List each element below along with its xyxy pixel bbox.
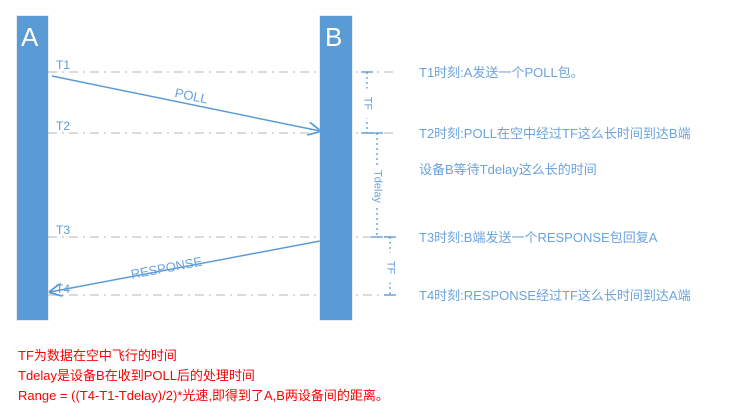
- time-label-t4: T4: [56, 283, 70, 295]
- time-label-t2: T2: [56, 120, 70, 132]
- annotation-t4: T4时刻:RESPONSE经过TF这么长时间到达A端: [419, 289, 691, 303]
- formula-line-tdelay: Tdelay是设备B在收到POLL后的处理时间: [18, 366, 389, 386]
- formula-line-range: Range = ((T4-T1-Tdelay)/2)*光速,即得到了A,B两设备…: [18, 386, 389, 406]
- annotation-t2: T2时刻:POLL在空中经过TF这么长时间到达B端: [419, 127, 691, 141]
- ranging-timing-diagram: A B T1 T2 T3 T4 POLL RESPONSE TF Tdelay …: [0, 0, 737, 418]
- annotation-t1: T1时刻:A发送一个POLL包。: [419, 66, 584, 80]
- formula-line-tf: TF为数据在空中飞行的时间: [18, 346, 389, 366]
- bracket-label-tdelay: Tdelay: [371, 167, 384, 207]
- annotation-tdelay: 设备B等待Tdelay这么长的时间: [419, 163, 597, 177]
- poll-arrow: [52, 76, 320, 131]
- bracket-label-tf-bottom: TF: [384, 253, 397, 283]
- node-bar-a: [17, 16, 48, 320]
- node-label-a: A: [21, 24, 38, 50]
- bracket-label-tf-top: TF: [361, 89, 374, 119]
- formula-block: TF为数据在空中飞行的时间 Tdelay是设备B在收到POLL后的处理时间 Ra…: [18, 346, 389, 406]
- time-label-t1: T1: [56, 59, 70, 71]
- node-label-b: B: [325, 24, 342, 50]
- annotation-t3: T3时刻:B端发送一个RESPONSE包回复A: [419, 231, 657, 245]
- node-bar-b: [320, 16, 352, 320]
- time-label-t3: T3: [56, 224, 70, 236]
